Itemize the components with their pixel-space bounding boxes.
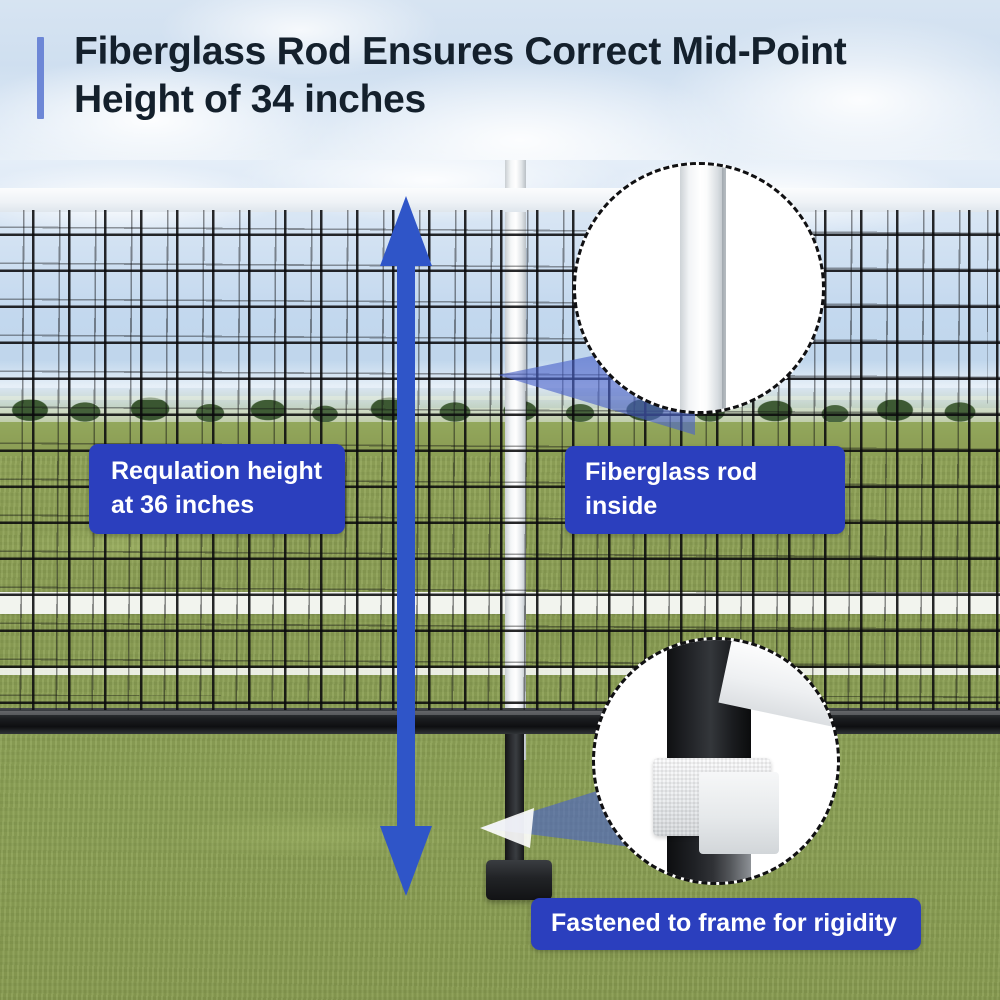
height-dimension-arrow <box>378 192 434 900</box>
net-top-tape <box>0 188 1000 212</box>
page-title: Fiberglass Rod Ensures Correct Mid-Point… <box>74 28 954 124</box>
magnifier-rod-detail <box>573 162 825 414</box>
callout-fastened-to-frame: Fastened to frame for rigidity <box>531 898 921 950</box>
infographic-canvas: Fiberglass Rod Ensures Correct Mid-Point… <box>0 0 1000 1000</box>
header-banner: Fiberglass Rod Ensures Correct Mid-Point… <box>0 0 1000 162</box>
product-photo-scene <box>0 160 1000 1000</box>
callout-fiberglass-rod: Fiberglass rod inside <box>565 446 845 534</box>
accent-bar <box>37 37 44 119</box>
callout-regulation-height: Requlation height at 36 inches <box>89 444 345 534</box>
rod-edge-shadow <box>722 162 726 414</box>
fiberglass-rod <box>680 162 726 414</box>
frame-bar-highlight <box>0 711 1000 715</box>
velcro-strap-wrap <box>699 772 779 854</box>
magnifier-strap-detail <box>592 637 840 885</box>
